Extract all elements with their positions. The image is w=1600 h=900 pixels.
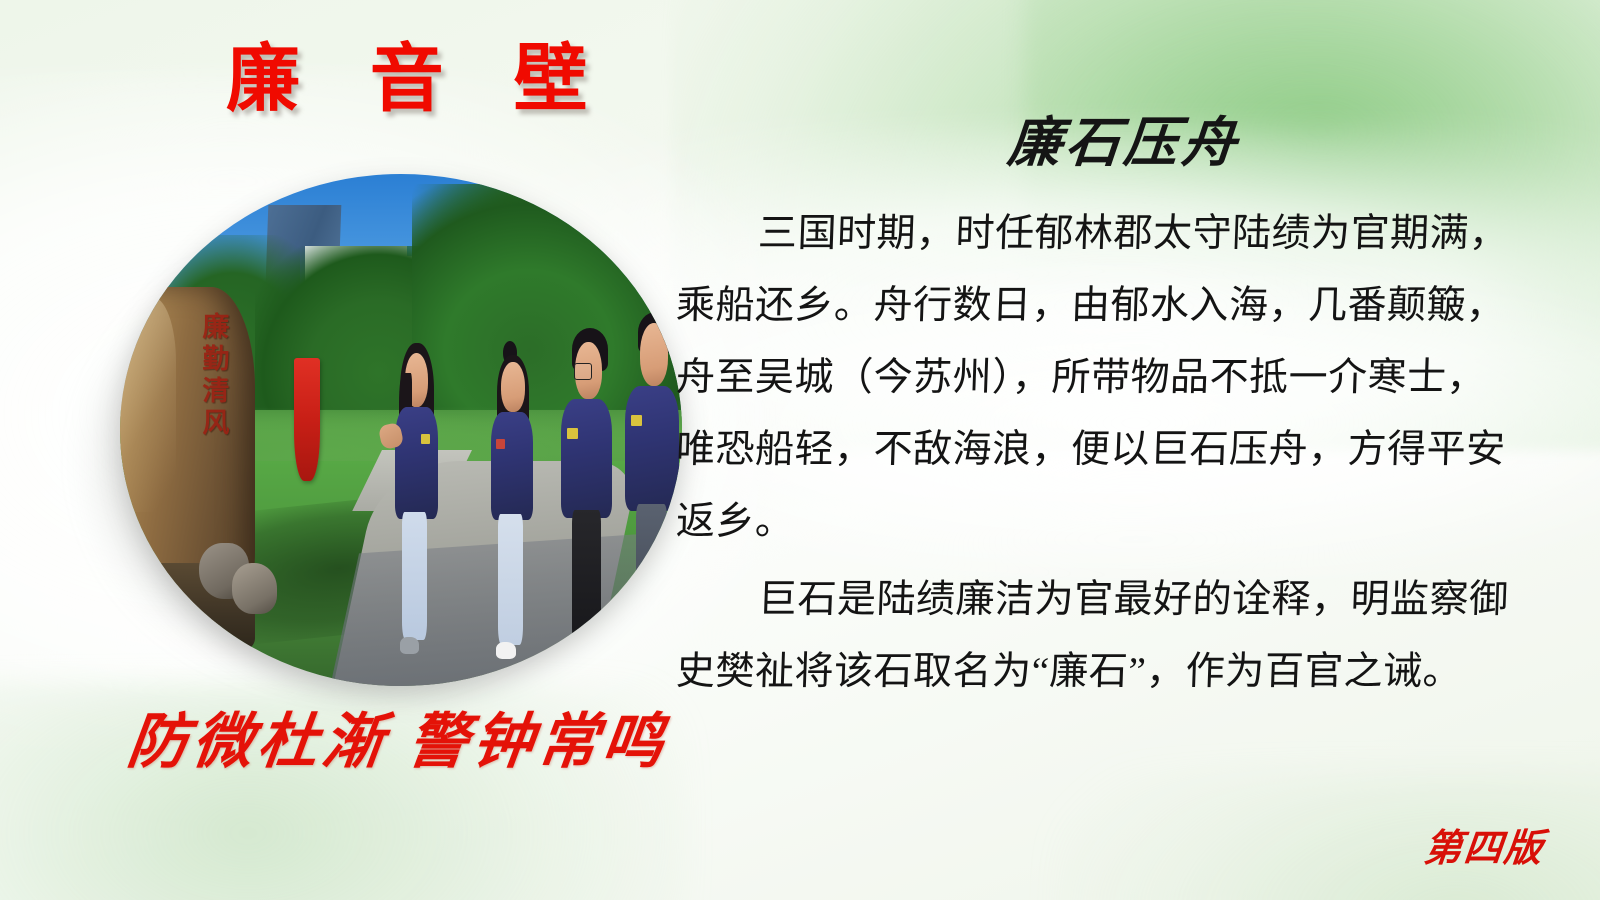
article-paragraph-2: 巨石是陆绩廉洁为官最好的诠释，明监察御 史樊祉将该石取名为“廉石”，作为百官之诫… [676,564,1508,708]
article-body: 三国时期，时任郁林郡太守陆绩为官期满， 乘船还乡。舟行数日，由郁水入海，几番颠簸… [676,198,1508,714]
article-paragraph-1: 三国时期，时任郁林郡太守陆绩为官期满， 乘船还乡。舟行数日，由郁水入海，几番颠簸… [676,198,1508,558]
article-line: 三国时期，时任郁林郡太守陆绩为官期满， [675,198,1510,270]
article-line: 唯恐船轻，不敌海浪，便以巨石压舟，方得平安 [675,414,1510,486]
article-line: 乘船还乡。舟行数日，由郁水入海，几番颠簸， [675,270,1510,342]
article-line: 舟至吴城（今苏州），所带物品不抵一介寒士， [675,342,1510,414]
poster-page: 廉 音 壁 廉勤清风 [0,0,1600,900]
article-heading: 廉石压舟 [1005,112,1242,174]
photo-person-1 [379,343,463,681]
article-line: 史樊祉将该石取名为“廉石”，作为百官之诫。 [675,636,1510,708]
circular-photo: 廉勤清风 [120,174,682,686]
photo-rock-small-2 [232,563,277,614]
article-line: 巨石是陆绩廉洁为官最好的诠释，明监察御 [675,564,1510,636]
photo-person-4 [615,312,682,681]
article-line: 返乡。 [675,486,1510,558]
photo-stone-inscription: 廉勤清风 [148,312,232,578]
page-number: 第四版 [1422,826,1547,872]
photo-person-2 [474,348,558,686]
page-title: 廉 音 壁 [226,36,610,122]
photo-red-banner [294,358,319,481]
slogan-text: 防微杜渐 警钟常鸣 [124,706,673,778]
